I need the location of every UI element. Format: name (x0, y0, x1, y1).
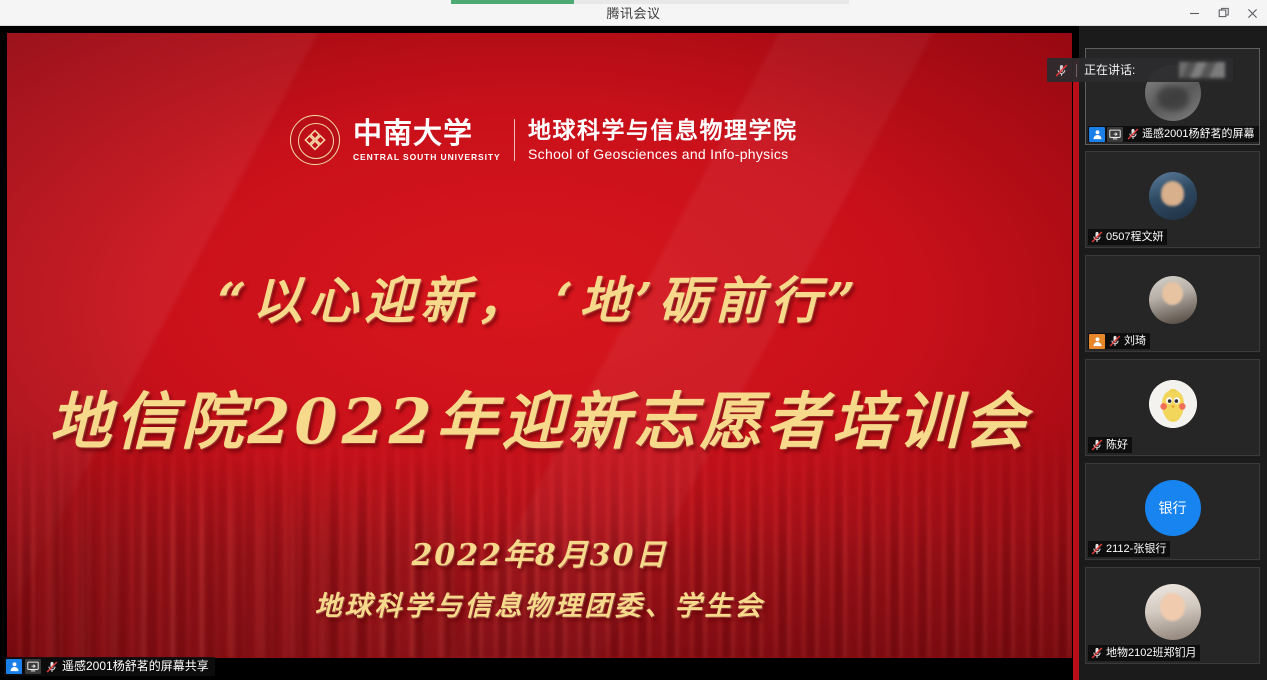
host-icon (1089, 127, 1105, 142)
host-icon (6, 659, 22, 674)
participant-name-badge-3: 陈好 (1088, 437, 1132, 453)
participant-tile-5[interactable]: 地物2102班郑钔月 (1085, 567, 1260, 664)
participant-name-3: 陈好 (1106, 437, 1128, 453)
avatar (1149, 380, 1197, 428)
participant-tile-1[interactable]: 0507程文妍 (1085, 151, 1260, 248)
slide-headline-primary: “以心迎新， ‘地’砺前行” (7, 261, 1072, 333)
avatar (1149, 172, 1197, 220)
avatar (1145, 584, 1201, 640)
share-frame-border (0, 26, 1079, 33)
restore-button[interactable] (1209, 0, 1238, 26)
microphone-off-icon (1089, 438, 1104, 453)
seal-mark-icon (304, 129, 326, 151)
slide-right-edge (1073, 59, 1079, 680)
cartoon-duck-icon (1149, 380, 1197, 428)
avatar-initials: 银行 (1159, 501, 1187, 515)
participant-name-4: 2112-张银行 (1106, 541, 1166, 557)
school-name-cn: 地球科学与信息物理学院 (528, 118, 798, 143)
participant-tile-3[interactable]: 陈好 (1085, 359, 1260, 456)
school-name-en: School of Geosciences and Info-physics (528, 146, 798, 162)
university-logo: 中南大学 CENTRAL SOUTH UNIVERSITY 地球科学与信息物理学… (290, 115, 798, 165)
school-name-block: 地球科学与信息物理学院 School of Geosciences and In… (528, 118, 798, 161)
participant-name-1: 0507程文妍 (1106, 229, 1163, 245)
minimize-icon (1189, 8, 1200, 19)
participant-tile-4[interactable]: 银行 2112-张银行 (1085, 463, 1260, 560)
tencent-meeting-window: 腾讯会议 (0, 0, 1267, 680)
logo-divider (514, 119, 516, 161)
microphone-off-icon (1054, 63, 1069, 78)
participant-filmstrip[interactable]: 遥感2001杨舒茗的屏幕共享 0507程文妍 (1079, 26, 1267, 680)
participant-name-badge-2: 刘琦 (1088, 333, 1150, 349)
slide-headline-secondary: 地信院2022年迎新志愿者培训会 (7, 371, 1072, 461)
avatar (1149, 276, 1197, 324)
microphone-off-icon (1107, 334, 1122, 349)
screen-share-icon (1107, 127, 1123, 142)
microphone-off-icon (44, 659, 59, 674)
participant-name-badge-5: 地物2102班郑钔月 (1088, 645, 1200, 661)
microphone-off-icon (1089, 646, 1104, 661)
university-name-cn: 中南大学 (353, 118, 501, 148)
microphone-off-icon (1089, 230, 1104, 245)
slide-date: 2022年8月30日 (7, 530, 1072, 574)
tooltip-divider (1076, 64, 1077, 77)
minimize-button[interactable] (1180, 0, 1209, 26)
screen-share-icon (25, 659, 41, 674)
sharer-name-label: 遥感2001杨舒茗的屏幕共享 (4, 657, 215, 676)
participant-name-0: 遥感2001杨舒茗的屏幕共享 (1142, 126, 1255, 142)
avatar: 银行 (1145, 480, 1201, 536)
microphone-off-icon (1125, 127, 1140, 142)
hand-raised-icon (1089, 334, 1105, 349)
participant-tile-2[interactable]: 刘琦 (1085, 255, 1260, 352)
presentation-slide: 中南大学 CENTRAL SOUTH UNIVERSITY 地球科学与信息物理学… (7, 33, 1072, 658)
participant-name-badge-4: 2112-张银行 (1088, 541, 1170, 557)
participant-name-badge-0: 遥感2001杨舒茗的屏幕共享 (1088, 126, 1259, 142)
window-title: 腾讯会议 (0, 0, 1267, 26)
shared-screen-stage[interactable]: 中南大学 CENTRAL SOUTH UNIVERSITY 地球科学与信息物理学… (0, 26, 1079, 680)
window-controls (1180, 0, 1267, 26)
active-speaker-label: 正在讲话: (1084, 58, 1135, 82)
active-speaker-blurred-name (1179, 62, 1225, 78)
university-name-block: 中南大学 CENTRAL SOUTH UNIVERSITY (353, 118, 501, 161)
sharer-name-text: 遥感2001杨舒茗的屏幕共享 (62, 657, 209, 676)
close-button[interactable] (1238, 0, 1267, 26)
participant-name-2: 刘琦 (1124, 333, 1146, 349)
active-speaker-tooltip: 正在讲话: (1047, 58, 1233, 82)
participant-name-badge-1: 0507程文妍 (1088, 229, 1167, 245)
window-titlebar[interactable]: 腾讯会议 (0, 0, 1267, 26)
university-seal-icon (290, 115, 340, 165)
slide-organizer: 地球科学与信息物理团委、学生会 (7, 584, 1072, 623)
close-icon (1247, 8, 1258, 19)
university-name-en: CENTRAL SOUTH UNIVERSITY (353, 152, 501, 162)
microphone-off-icon (1089, 542, 1104, 557)
restore-icon (1218, 7, 1230, 19)
participant-name-5: 地物2102班郑钔月 (1106, 645, 1196, 661)
